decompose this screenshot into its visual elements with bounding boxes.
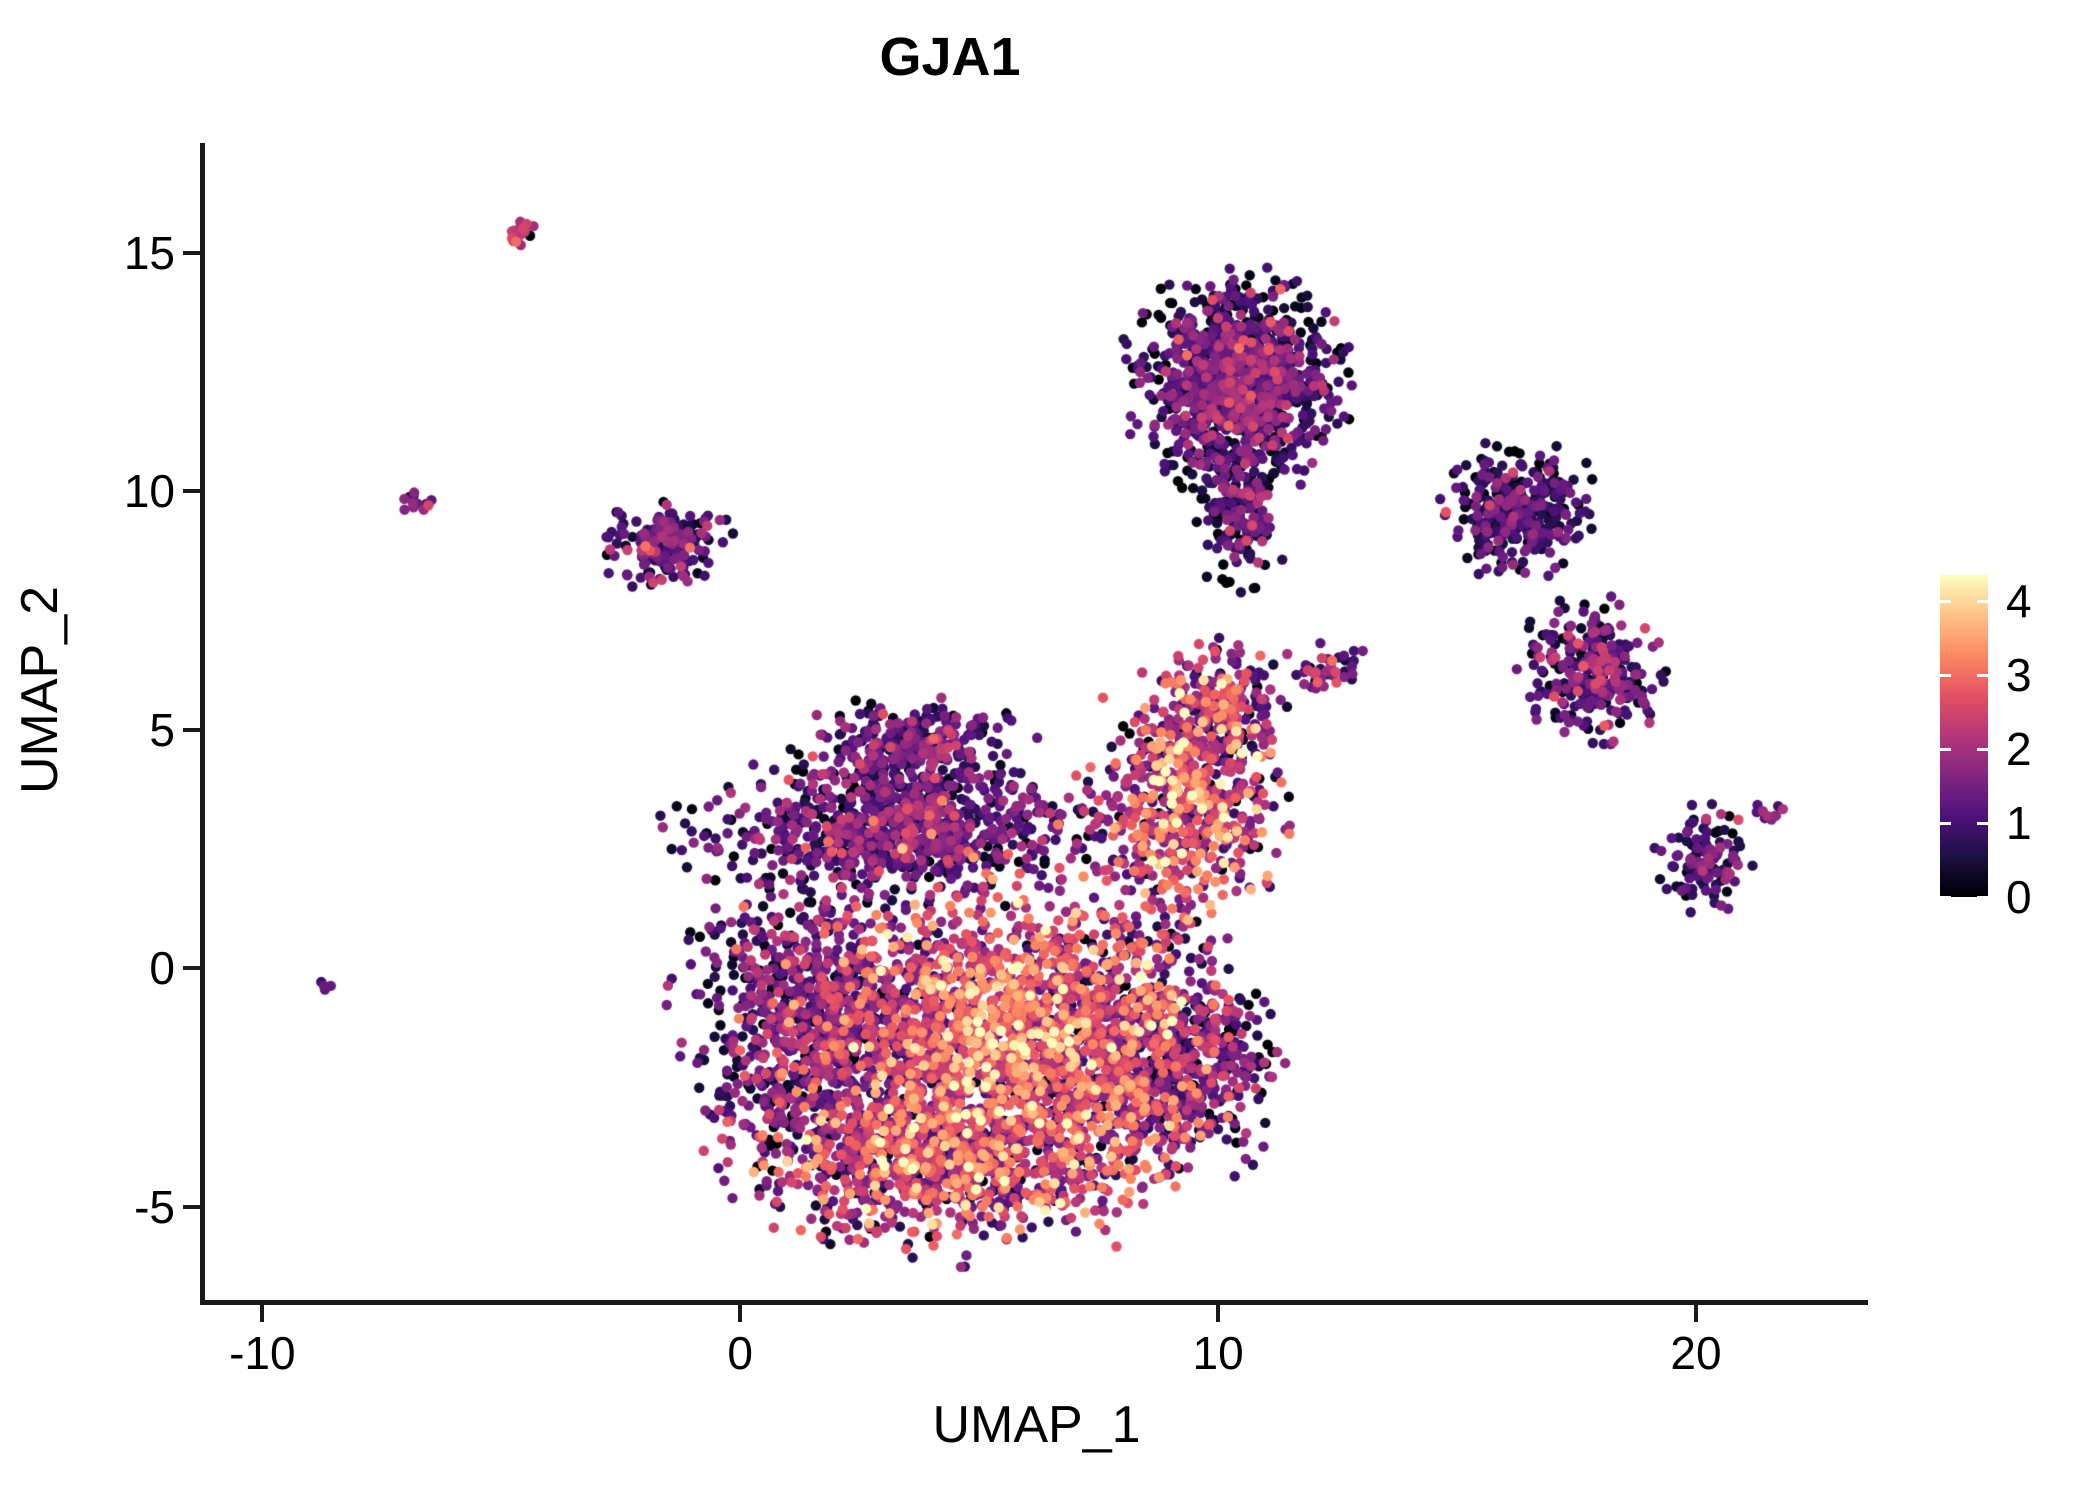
legend-tick-label: 2 <box>2006 726 2032 772</box>
x-tick-mark <box>738 1305 742 1322</box>
page-title: GJA1 <box>0 30 1900 84</box>
legend-tick-label: 4 <box>2006 578 2032 624</box>
y-tick-mark <box>183 1205 200 1209</box>
color-legend-bar <box>1940 575 1988 897</box>
legend-tick-mark <box>1940 674 1988 677</box>
y-tick-mark <box>183 489 200 493</box>
x-tick-mark <box>1216 1305 1220 1322</box>
legend-tick-mark <box>1940 600 1988 603</box>
y-tick-label: 0 <box>149 945 175 991</box>
x-axis-title: UMAP_1 <box>205 1395 1868 1455</box>
y-tick-label: 15 <box>124 230 175 276</box>
legend-tick-mark <box>1940 896 1988 899</box>
y-tick-mark <box>183 966 200 970</box>
y-tick-label: -5 <box>134 1184 175 1230</box>
legend-tick-mark <box>1940 748 1988 751</box>
legend-tick-mark <box>1940 822 1988 825</box>
y-tick-mark <box>183 728 200 732</box>
plot-panel <box>205 143 1868 1302</box>
umap-feature-plot: GJA1 -5051015 -1001020 UMAP_2 UMAP_1 012… <box>0 0 2100 1500</box>
y-tick-label: 10 <box>124 468 175 514</box>
y-axis-title: UMAP_2 <box>10 290 70 1090</box>
x-tick-mark <box>1694 1305 1698 1322</box>
legend-tick-label: 1 <box>2006 800 2032 846</box>
x-tick-label: 20 <box>1670 1330 1721 1376</box>
x-tick-label: 0 <box>727 1330 753 1376</box>
legend-tick-label: 3 <box>2006 652 2032 698</box>
x-tick-mark <box>260 1305 264 1322</box>
x-tick-label: 10 <box>1192 1330 1243 1376</box>
x-tick-label: -10 <box>229 1330 295 1376</box>
scatter-plot-canvas <box>205 143 1868 1302</box>
x-axis-line <box>200 1300 1868 1305</box>
color-legend: 01234 <box>1940 575 2090 905</box>
legend-tick-label: 0 <box>2006 874 2032 920</box>
y-tick-label: 5 <box>149 707 175 753</box>
y-axis-line <box>200 143 205 1305</box>
y-tick-mark <box>183 251 200 255</box>
